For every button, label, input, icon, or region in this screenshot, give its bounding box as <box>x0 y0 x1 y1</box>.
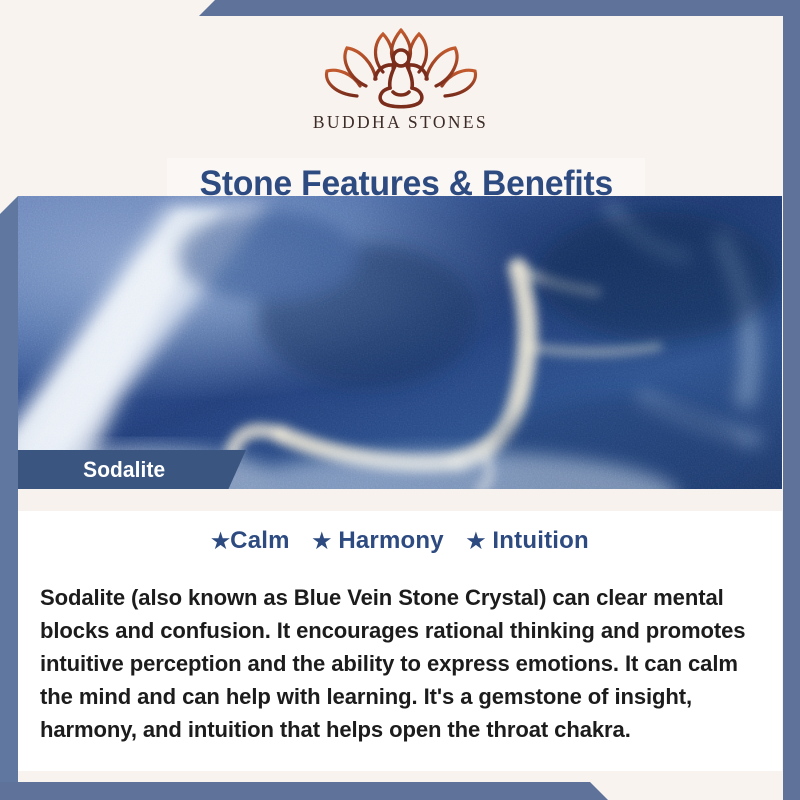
stone-photo <box>18 196 782 489</box>
star-icon: ★ <box>312 530 331 553</box>
keyword-list: ★Calm ★ Harmony ★ Intuition <box>18 527 782 555</box>
header: BUDDHA STONES Stone Features & Benefits <box>18 16 783 196</box>
keyword-item-intuition: ★ Intuition <box>467 527 589 554</box>
sodalite-texture-graphic <box>18 196 782 489</box>
stone-name-banner: Sodalite <box>18 450 246 490</box>
keyword-label-harmony: Harmony <box>338 527 443 554</box>
brand-logo: BUDDHA STONES <box>18 24 783 133</box>
frame-band-bottom <box>0 782 800 800</box>
star-icon: ★ <box>467 530 486 553</box>
keyword-item-calm: ★Calm <box>211 527 290 554</box>
frame-band-right <box>783 0 800 800</box>
frame-band-left <box>0 0 18 800</box>
keyword-item-harmony: ★ Harmony <box>312 527 443 554</box>
keyword-label-intuition: Intuition <box>492 527 588 554</box>
lotus-meditation-figure-icon <box>313 24 489 110</box>
stone-description: Sodalite (also known as Blue Vein Stone … <box>40 581 749 746</box>
brand-name: BUDDHA STONES <box>313 112 488 133</box>
stone-name: Sodalite <box>83 457 165 483</box>
keyword-label-calm: Calm <box>230 527 290 554</box>
frame-band-top <box>0 0 800 16</box>
photo-content-divider <box>18 489 782 511</box>
content-card: ★Calm ★ Harmony ★ Intuition Sodalite (al… <box>18 511 782 771</box>
star-icon: ★ <box>211 530 230 553</box>
poster-root: BUDDHA STONES Stone Features & Benefits <box>0 0 800 800</box>
